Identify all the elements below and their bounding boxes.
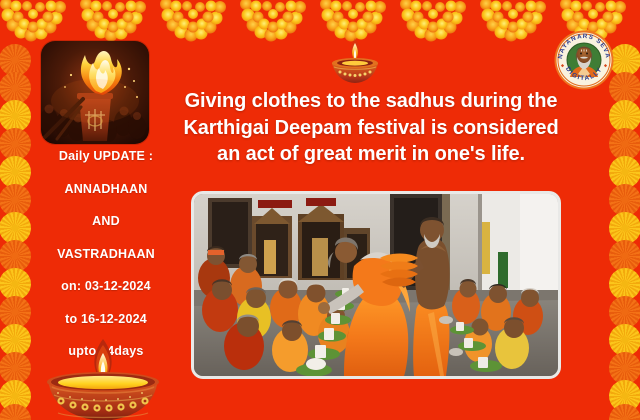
karthigai-deepam-fire-photo <box>41 41 149 144</box>
bottom-diya-lamp-icon <box>28 337 178 420</box>
headline-text: Giving clothes to the sadhus during the … <box>172 88 570 168</box>
sadhus-offering-photo <box>191 191 561 379</box>
sidebar-line-end-date: to 16-12-2024 <box>30 313 182 326</box>
sidebar-line-vastradhaan: VASTRADHAAN <box>30 248 182 261</box>
right-flower-border <box>610 0 640 420</box>
sidebar-line-annadhaan: ANNADHAAN <box>30 183 182 196</box>
sidebar-line-start-date: on: 03-12-2024 <box>30 280 182 293</box>
sidebar-line-and: AND <box>30 215 182 228</box>
left-flower-border <box>0 0 30 420</box>
nayanars-seva-digitally-logo: NAYANARS SEVA DIGITALLY <box>554 30 614 90</box>
sidebar-line-daily-update: Daily UPDATE : <box>30 150 182 163</box>
poster-canvas: Daily UPDATE : ANNADHAAN AND VASTRADHAAN… <box>0 0 640 420</box>
top-garland-decoration <box>0 0 640 46</box>
diya-lamp-icon <box>328 34 382 90</box>
